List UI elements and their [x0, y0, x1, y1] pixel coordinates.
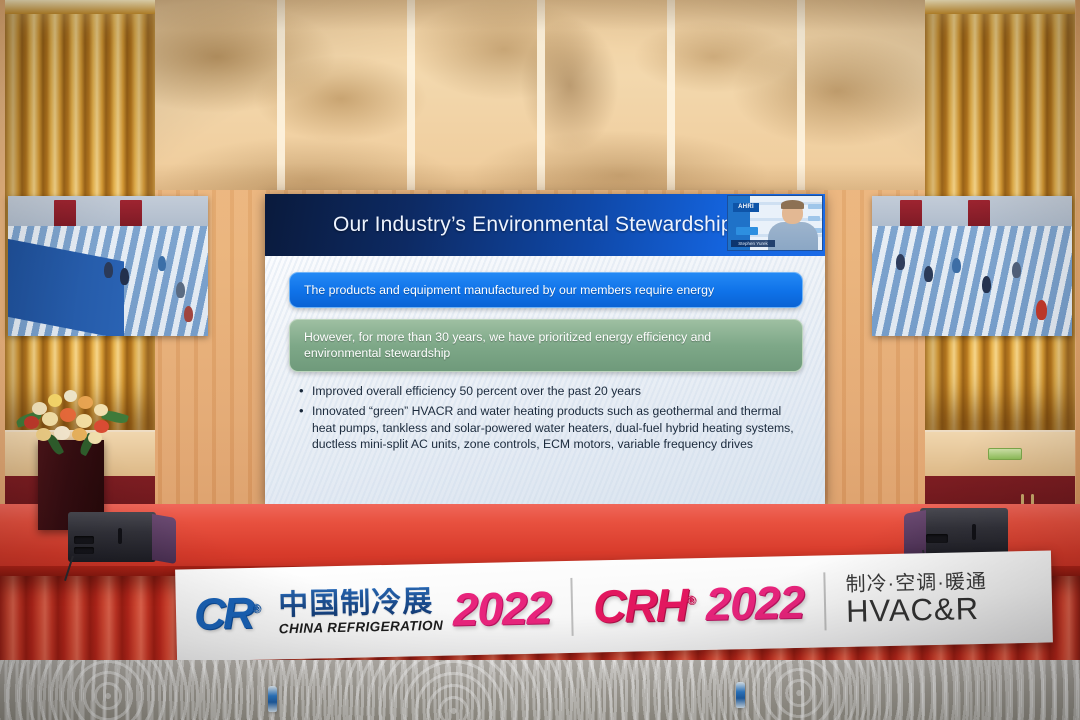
year-right: 2022: [705, 579, 804, 627]
hall-door-icon: [900, 200, 922, 228]
slide-title-bar: Our Industry’s Environmental Stewardship…: [265, 194, 825, 256]
monitor-grill: [926, 534, 948, 543]
monitor-grill: [74, 547, 94, 554]
banner-divider: [823, 572, 826, 630]
china-refrigeration-chinese: 中国制冷展: [278, 587, 443, 621]
conference-stage-photo: Our Industry’s Environmental Stewardship…: [0, 0, 1080, 720]
backdrop-chip: [808, 216, 820, 221]
remote-speaker-video-tile[interactable]: AHRI Stephen Yurek: [727, 195, 823, 251]
banner-content: CR® 中国制冷展 CHINA REFRIGERATION 2022 CRH® …: [175, 550, 1053, 661]
crh-registered-icon: ®: [687, 593, 696, 607]
floral-arrangement: [14, 388, 132, 456]
ahri-secondary-logo: [736, 227, 758, 235]
water-bottle: [736, 682, 745, 708]
flower: [48, 394, 62, 407]
hall-door-icon: [54, 200, 76, 228]
hall-door-icon: [120, 200, 142, 228]
monitor-handle-slot: [972, 524, 976, 540]
flower: [42, 412, 58, 426]
mural-shading: [155, 0, 930, 190]
side-led-screen-right: [872, 196, 1072, 336]
china-refrigeration-english: CHINA REFRIGERATION: [279, 619, 444, 636]
callout-blue: The products and equipment manufactured …: [289, 272, 803, 308]
flower: [94, 420, 109, 433]
flower: [94, 404, 108, 416]
audience-person: [896, 254, 905, 270]
flower: [88, 432, 102, 444]
speaker-name-bar: Stephen Yurek: [731, 240, 775, 247]
slide-title: Our Industry’s Environmental Stewardship: [265, 213, 733, 237]
year-left: 2022: [452, 584, 551, 632]
hall-door-icon: [968, 200, 990, 228]
audience-person: [120, 268, 129, 285]
hvac-names: 制冷·空调·暖通 HVAC&R: [845, 572, 987, 627]
cr-logo-text: CR: [194, 589, 253, 639]
backdrop-chip: [808, 204, 822, 209]
main-led-screen: Our Industry’s Environmental Stewardship…: [265, 194, 825, 504]
audience-person-red: [1036, 300, 1047, 320]
audience-person: [924, 266, 933, 282]
water-bottle: [268, 686, 277, 712]
bullet-item: Improved overall efficiency 50 percent o…: [297, 383, 803, 399]
crh-logo-text: CRH: [593, 578, 688, 632]
flower: [60, 408, 76, 422]
slide-body: The products and equipment manufactured …: [265, 256, 825, 504]
presentation-slide: Our Industry’s Environmental Stewardship…: [265, 194, 825, 504]
monitor-cabinet: [920, 508, 1008, 558]
audience-person: [184, 306, 193, 322]
audience-feed-backwall: [8, 196, 208, 230]
carpeted-floor: [0, 660, 1080, 720]
flower: [36, 428, 51, 441]
audience-person: [104, 262, 113, 278]
speaker-hair: [781, 200, 804, 209]
stage-monitor-left: [68, 512, 176, 564]
audience-person: [158, 256, 166, 271]
monitor-grill: [74, 536, 94, 544]
flower: [24, 416, 39, 429]
bullet-item: Innovated “green” HVACR and water heatin…: [297, 403, 803, 452]
cr-logo: CR®: [194, 592, 269, 638]
slide-bullet-list: Improved overall efficiency 50 percent o…: [289, 383, 803, 453]
side-led-screen-left: [8, 196, 208, 336]
flower: [78, 396, 93, 409]
audience-person: [952, 258, 961, 273]
exit-sign-right: [988, 448, 1022, 460]
hvac-english: HVAC&R: [846, 593, 980, 627]
flower: [72, 428, 87, 441]
speaker-torso: [768, 222, 818, 251]
monitor-handle-slot: [118, 528, 122, 544]
monitor-side-wedge: [152, 514, 176, 564]
audience-person: [1012, 262, 1021, 278]
cr-registered-icon: ®: [251, 601, 260, 615]
china-refrigeration-names: 中国制冷展 CHINA REFRIGERATION: [278, 587, 443, 636]
chinese-landscape-mural: [155, 0, 930, 190]
flower: [76, 414, 92, 428]
audience-person: [176, 282, 185, 298]
flower: [64, 390, 77, 402]
banner-divider: [570, 578, 573, 636]
event-banner: CR® 中国制冷展 CHINA REFRIGERATION 2022 CRH® …: [175, 550, 1053, 661]
audience-person: [982, 276, 991, 293]
flower: [54, 426, 70, 440]
callout-green: However, for more than 30 years, we have…: [289, 319, 803, 371]
crh-logo: CRH®: [593, 581, 696, 629]
ahri-logo: AHRI: [733, 203, 759, 212]
